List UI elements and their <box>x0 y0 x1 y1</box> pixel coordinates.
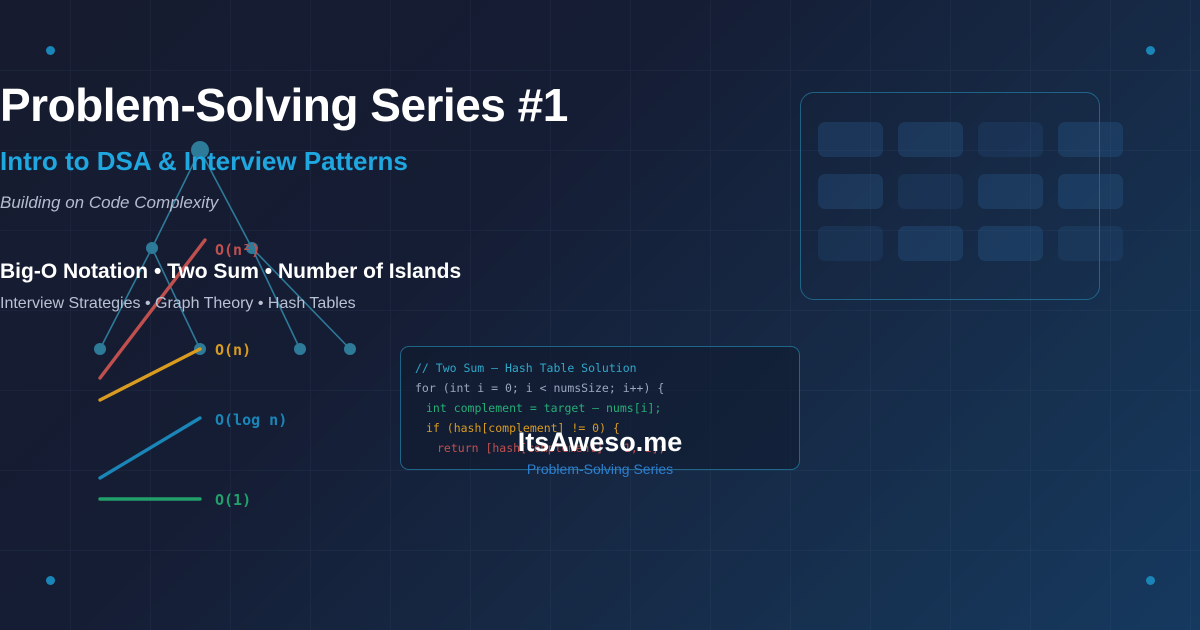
corner-dot <box>1146 576 1155 585</box>
slide-canvas: O(n²)O(n)O(log n)O(1) Problem-Solving Se… <box>0 0 1200 630</box>
tree-node <box>94 343 106 355</box>
subtopics-line: Interview Strategies • Graph Theory • Ha… <box>0 295 1200 313</box>
watermark-brand: ItsAweso.me <box>0 427 1200 458</box>
hash-table-cell <box>818 226 883 261</box>
code-line: // Two Sum — Hash Table Solution <box>415 358 785 378</box>
page-subtitle: Intro to DSA & Interview Patterns <box>0 146 1200 177</box>
hash-table-cell <box>1058 226 1123 261</box>
tree-node <box>294 343 306 355</box>
corner-dot <box>1146 46 1155 55</box>
complexity-label: O(n²) <box>215 241 260 259</box>
tree-node <box>146 242 158 254</box>
page-tagline: Building on Code Complexity <box>0 193 1200 213</box>
hash-table-cell <box>898 226 963 261</box>
hash-table-cell <box>978 226 1043 261</box>
code-line: int complement = target — nums[i]; <box>415 398 785 418</box>
code-line: for (int i = 0; i < numsSize; i++) { <box>415 378 785 398</box>
complexity-label: O(1) <box>215 491 251 509</box>
page-title: Problem-Solving Series #1 <box>0 78 1200 132</box>
topics-line: Big-O Notation • Two Sum • Number of Isl… <box>0 260 1200 284</box>
complexity-label: O(n) <box>215 341 251 359</box>
tree-node <box>344 343 356 355</box>
watermark-series: Problem-Solving Series <box>0 461 1200 477</box>
